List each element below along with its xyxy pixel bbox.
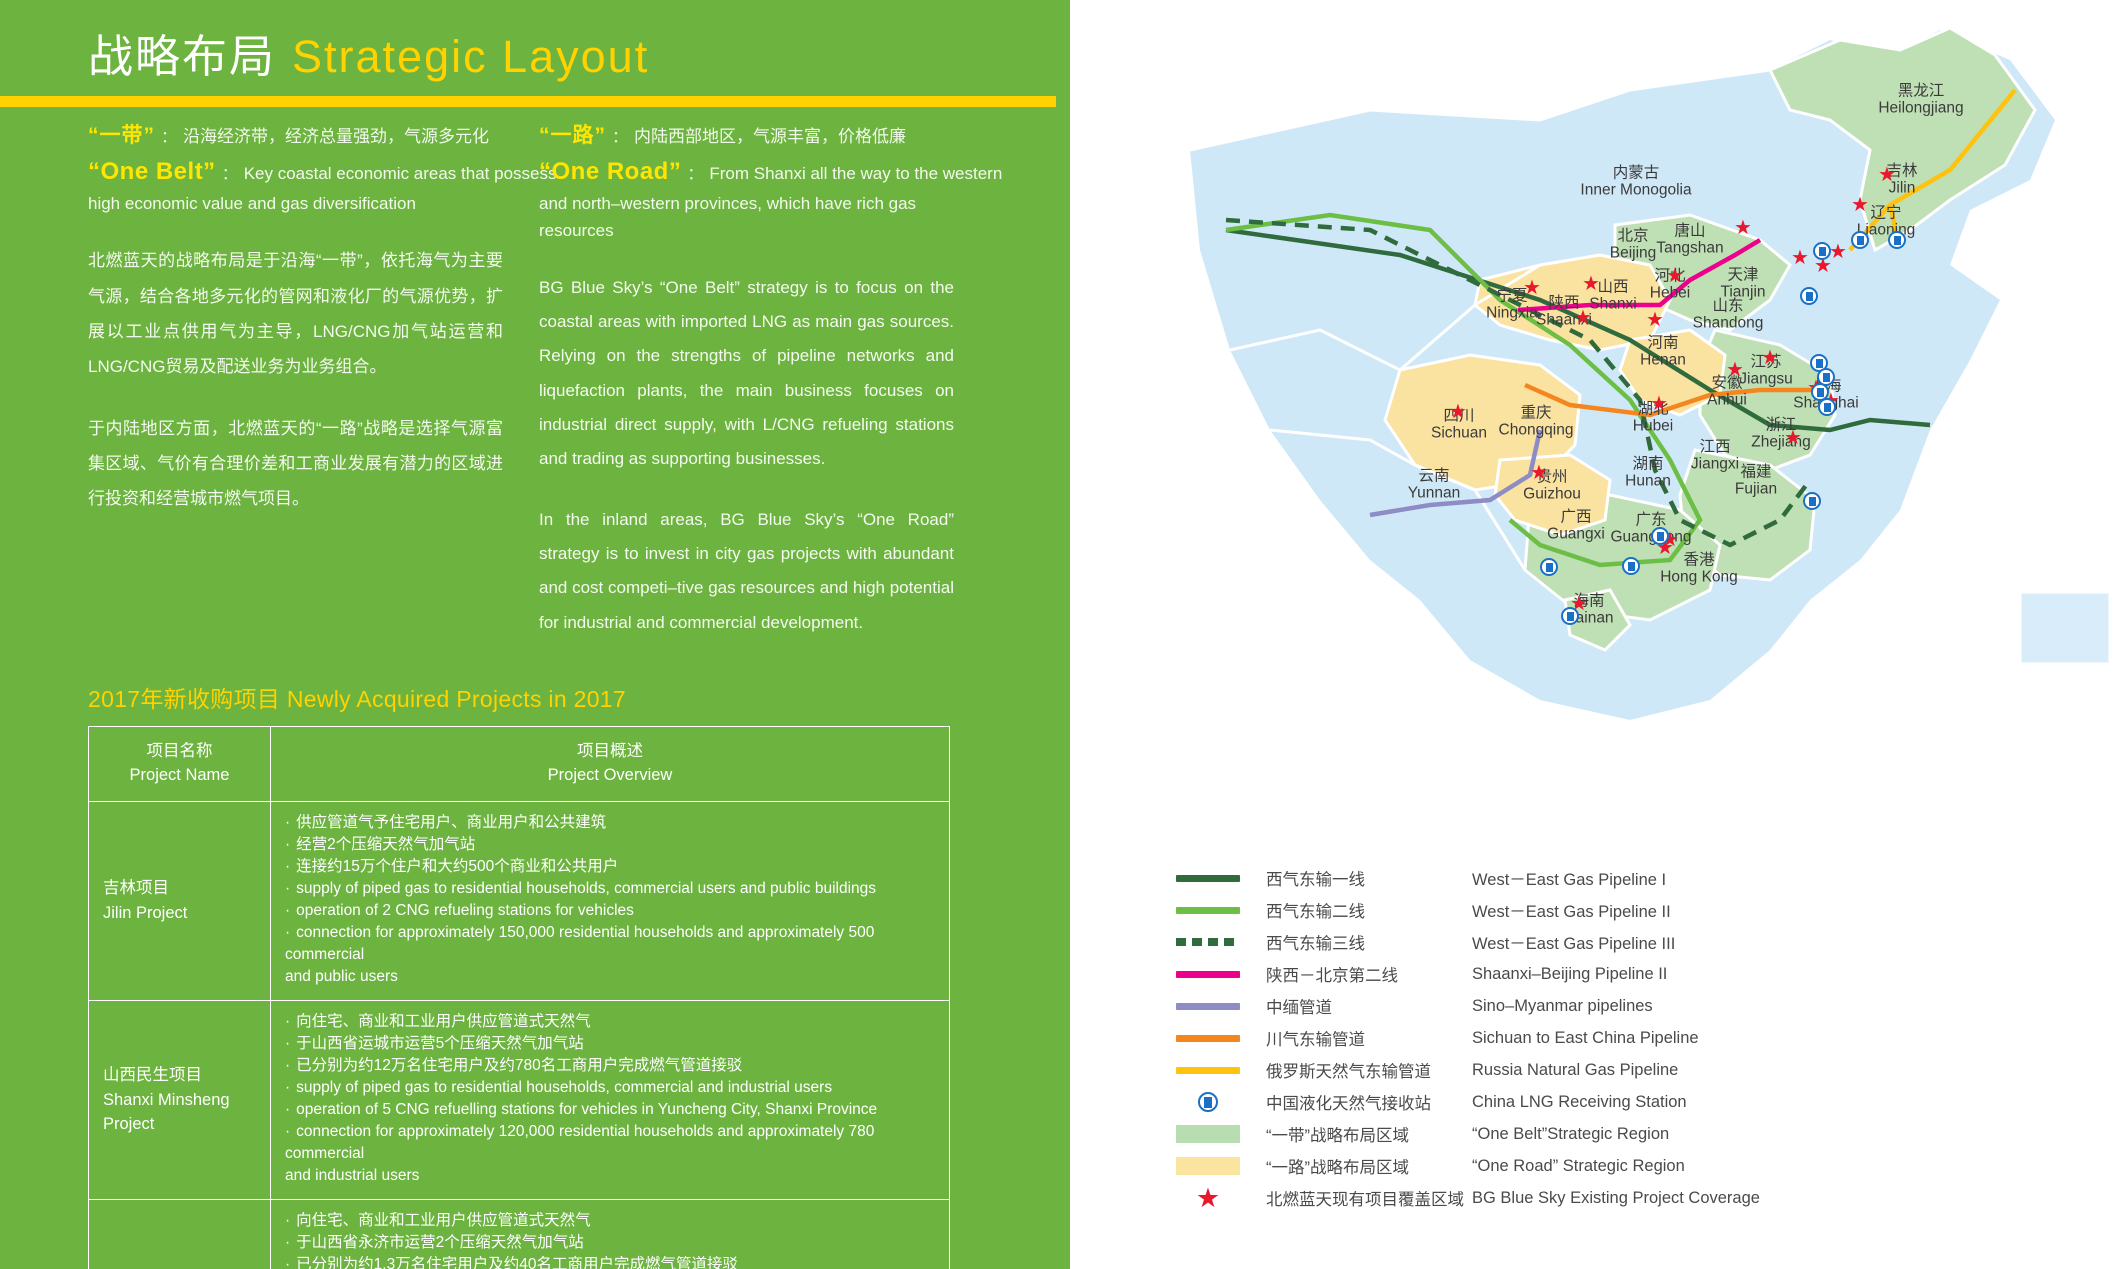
legend-label-cn: 川气东输管道 <box>1250 1026 1472 1050</box>
one-belt-lede: “一带”：沿海经济带，经济总量强劲，气源多元化 “One Belt”：Key c… <box>88 120 503 217</box>
overview-bullet: ·向住宅、商业和工业用户供应管道式天然气 <box>285 1210 935 1232</box>
legend-line-swatch <box>1176 1003 1240 1010</box>
header-project-overview-en: Project Overview <box>548 766 673 784</box>
lng-receiving-station-icon <box>1622 557 1640 575</box>
region-swatch-icon <box>1166 1157 1250 1175</box>
overview-bullet: ·经营2个压缩天然气加气站 <box>285 834 935 856</box>
legend-label-cn: “一带”战略布局区域 <box>1250 1122 1472 1146</box>
legend-line-swatch <box>1176 875 1240 882</box>
overview-bullet: ·supply of piped gas to residential hous… <box>285 1077 935 1099</box>
header-project-overview: 项目概述 Project Overview <box>271 727 950 802</box>
one-road-keyword-cn: “一路” <box>539 124 606 147</box>
column-one-belt: “一带”：沿海经济带，经济总量强劲，气源多元化 “One Belt”：Key c… <box>88 120 503 640</box>
solid-line-icon <box>1166 907 1250 914</box>
legend-row: 中缅管道Sino–Myanmar pipelines <box>1166 990 2096 1022</box>
bullet-dot-icon: · <box>285 1101 290 1118</box>
overview-bullet: ·于山西省运城市运营5个压缩天然气加气站 <box>285 1033 935 1055</box>
one-belt-cn-line: “一带”：沿海经济带，经济总量强劲，气源多元化 <box>88 120 503 153</box>
table-row: 吉林项目Jilin Project·供应管道气予住宅用户、商业用户和公共建筑·经… <box>89 801 950 1000</box>
overview-bullet-continuation: and public users <box>285 966 935 988</box>
one-belt-sep-cn: ： <box>155 129 183 146</box>
paragraph-cn-one-belt: 北燃蓝天的战略布局是于沿海“一带”，依托海气为主要气源，结合各地多元化的管网和液… <box>88 243 503 384</box>
left-content-panel: 战略布局Strategic Layout “一带”：沿海经济带，经济总量强劲，气… <box>0 0 1070 1269</box>
overview-bullet: ·connection for approximately 150,000 re… <box>285 922 935 966</box>
table-row: 山西民生项目Shanxi Minsheng Project·向住宅、商业和工业用… <box>89 1000 950 1199</box>
one-belt-desc-cn: 沿海经济带，经济总量强劲，气源多元化 <box>183 127 489 146</box>
one-belt-keyword-en: “One Belt” <box>88 158 216 185</box>
content-body: “一带”：沿海经济带，经济总量强劲，气源多元化 “One Belt”：Key c… <box>0 120 1070 1269</box>
legend-label-cn: 西气东输一线 <box>1250 866 1472 890</box>
one-road-cn-line: “一路”：内陆西部地区，气源丰富，价格低廉 <box>539 120 954 153</box>
bullet-dot-icon: · <box>285 1212 290 1229</box>
legend-row: ★北燃蓝天现有项目覆盖区域BG Blue Sky Existing Projec… <box>1166 1182 2096 1214</box>
overview-bullet: ·operation of 5 CNG refuelling stations … <box>285 1099 935 1121</box>
one-belt-desc-en-cont: high economic value and gas diversificat… <box>88 190 503 218</box>
legend-label-en: West－East Gas Pipeline I <box>1472 866 1666 890</box>
legend-label-cn: 俄罗斯天然气东输管道 <box>1250 1058 1472 1082</box>
star-icon: ★ <box>1166 1185 1250 1212</box>
legend-label-cn: 中缅管道 <box>1250 994 1472 1018</box>
cell-project-overview: ·向住宅、商业和工业用户供应管道式天然气·于山西省永济市运营2个压缩天然气加气站… <box>271 1199 950 1269</box>
header-project-name: 项目名称 Project Name <box>89 727 271 802</box>
one-belt-sep-en: ： <box>216 166 244 183</box>
legend-region-swatch <box>1176 1157 1240 1175</box>
bullet-dot-icon: · <box>285 1123 290 1140</box>
solid-line-icon <box>1166 1035 1250 1042</box>
legend-row: 西气东输二线West－East Gas Pipeline II <box>1166 894 2096 926</box>
bullet-dot-icon: · <box>285 880 290 897</box>
legend-line-swatch <box>1176 907 1240 914</box>
overview-bullet: ·已分别为约1.3万名住宅用户及约40名工商用户完成燃气管道接驳 <box>285 1254 935 1269</box>
lng-receiving-station-icon <box>1803 492 1821 510</box>
map-inset-box <box>2020 592 2110 664</box>
solid-line-icon <box>1166 1003 1250 1010</box>
one-road-desc-en-cont: and north–western provinces, which have … <box>539 190 954 245</box>
two-column-text: “一带”：沿海经济带，经济总量强劲，气源多元化 “One Belt”：Key c… <box>0 120 1070 640</box>
project-name-en: Shanxi Minsheng Project <box>103 1088 256 1138</box>
paragraph-en-one-road: In the inland areas, BG Blue Sky’s “One … <box>539 503 954 640</box>
legend-row: “一带”战略布局区域“One Belt”Strategic Region <box>1166 1118 2096 1150</box>
legend-label-en: Sino–Myanmar pipelines <box>1472 997 1653 1016</box>
overview-bullet-continuation: and industrial users <box>285 1165 935 1187</box>
bullet-dot-icon: · <box>285 924 290 941</box>
one-belt-desc-en: Key coastal economic areas that possess <box>244 164 557 183</box>
one-belt-keyword-cn: “一带” <box>88 124 155 147</box>
legend-star-swatch: ★ <box>1196 1185 1220 1212</box>
overview-bullet: ·connection for approximately 120,000 re… <box>285 1121 935 1165</box>
lng-receiving-station-icon <box>1851 231 1869 249</box>
one-road-lede: “一路”：内陆西部地区，气源丰富，价格低廉 “One Road”：From Sh… <box>539 120 954 245</box>
legend-lng-swatch <box>1198 1092 1218 1112</box>
table-body: 吉林项目Jilin Project·供应管道气予住宅用户、商业用户和公共建筑·经… <box>89 801 950 1269</box>
legend-label-en: BG Blue Sky Existing Project Coverage <box>1472 1189 1760 1208</box>
legend-line-swatch <box>1176 971 1240 978</box>
lng-receiving-station-icon <box>1800 287 1818 305</box>
one-road-en-line: “One Road”：From Shanxi all the way to th… <box>539 153 954 190</box>
legend-label-en: Sichuan to East China Pipeline <box>1472 1029 1699 1048</box>
legend-label-en: Shaanxi–Beijing Pipeline II <box>1472 965 1667 984</box>
legend-label-en: West－East Gas Pipeline II <box>1472 898 1671 922</box>
cell-project-name: 吉林项目Jilin Project <box>89 801 271 1000</box>
table-header-row: 项目名称 Project Name 项目概述 Project Overview <box>89 727 950 802</box>
table-row: 永济民生项目Yongji Minsheng Project·向住宅、商业和工业用… <box>89 1199 950 1269</box>
page-header: 战略布局Strategic Layout <box>0 0 1070 96</box>
lng-receiving-station-icon <box>1651 527 1669 545</box>
overview-bullet: ·连接约15万个住户和大约500个商业和公共用户 <box>285 856 935 878</box>
legend-label-en: West－East Gas Pipeline III <box>1472 930 1675 954</box>
header-project-name-en: Project Name <box>130 766 230 784</box>
china-map: 黑龙江Heilongjiang吉林Jilin辽宁Liaoning内蒙古Inner… <box>1070 0 2114 900</box>
legend-line-swatch <box>1176 1067 1240 1074</box>
column-one-road: “一路”：内陆西部地区，气源丰富，价格低廉 “One Road”：From Sh… <box>539 120 954 640</box>
solid-line-icon <box>1166 971 1250 978</box>
legend-label-en: “One Belt”Strategic Region <box>1472 1125 1669 1144</box>
bullet-dot-icon: · <box>285 1079 290 1096</box>
cell-project-overview: ·向住宅、商业和工业用户供应管道式天然气·于山西省运城市运营5个压缩天然气加气站… <box>271 1000 950 1199</box>
lng-receiving-station-icon <box>1540 558 1558 576</box>
lng-receiving-station-icon <box>1813 242 1831 260</box>
header-project-overview-cn: 项目概述 <box>577 742 643 760</box>
paragraph-cn-one-road: 于内陆地区方面，北燃蓝天的“一路”战略是选择气源富集区域、气价有合理价差和工商业… <box>88 411 503 517</box>
bullet-dot-icon: · <box>285 836 290 853</box>
overview-bullet: ·已分别为约12万名住宅用户及约780名工商用户完成燃气管道接驳 <box>285 1055 935 1077</box>
one-road-sep-en: ： <box>681 166 709 183</box>
legend-dashed-swatch <box>1176 938 1240 946</box>
legend-label-cn: 陕西－北京第二线 <box>1250 962 1472 986</box>
cell-project-overview: ·供应管道气予住宅用户、商业用户和公共建筑·经营2个压缩天然气加气站·连接约15… <box>271 801 950 1000</box>
page-title-en: Strategic Layout <box>292 31 649 82</box>
map-panel: 黑龙江Heilongjiang吉林Jilin辽宁Liaoning内蒙古Inner… <box>1070 0 2114 1269</box>
legend-label-cn: 北燃蓝天现有项目覆盖区域 <box>1250 1186 1472 1210</box>
header-project-name-cn: 项目名称 <box>147 742 213 760</box>
lng-station-icon <box>1166 1092 1250 1112</box>
china-map-svg <box>1070 0 2114 900</box>
map-legend: 西气东输一线West－East Gas Pipeline I西气东输二线West… <box>1166 862 2096 1214</box>
paragraph-en-one-belt: BG Blue Sky’s “One Belt” strategy is to … <box>539 271 954 477</box>
legend-label-cn: “一路”战略布局区域 <box>1250 1154 1472 1178</box>
bullet-dot-icon: · <box>285 1013 290 1030</box>
overview-bullet: ·供应管道气予住宅用户、商业用户和公共建筑 <box>285 812 935 834</box>
legend-label-cn: 西气东输二线 <box>1250 898 1472 922</box>
page-title: 战略布局Strategic Layout <box>88 20 649 85</box>
legend-row: 陕西－北京第二线Shaanxi–Beijing Pipeline II <box>1166 958 2096 990</box>
one-belt-en-line: “One Belt”：Key coastal economic areas th… <box>88 153 503 190</box>
bullet-dot-icon: · <box>285 1035 290 1052</box>
section-title-acquired-projects: 2017年新收购项目 Newly Acquired Projects in 20… <box>88 680 1070 714</box>
solid-line-icon <box>1166 1067 1250 1074</box>
legend-label-en: Russia Natural Gas Pipeline <box>1472 1061 1678 1080</box>
one-road-desc-cn: 内陆西部地区，气源丰富，价格低廉 <box>634 127 906 146</box>
project-name-cn: 吉林项目 <box>103 876 256 901</box>
legend-label-en: “One Road” Strategic Region <box>1472 1157 1685 1176</box>
cell-project-name: 山西民生项目Shanxi Minsheng Project <box>89 1000 271 1199</box>
bullet-dot-icon: · <box>285 1256 290 1269</box>
legend-label-cn: 西气东输三线 <box>1250 930 1472 954</box>
lng-receiving-station-icon <box>1561 607 1579 625</box>
one-road-sep-cn: ： <box>606 129 634 146</box>
acquired-projects-table: 项目名称 Project Name 项目概述 Project Overview … <box>88 726 950 1269</box>
one-road-keyword-en: “One Road” <box>539 158 681 185</box>
bullet-dot-icon: · <box>285 814 290 831</box>
region-swatch-icon <box>1166 1125 1250 1143</box>
table-head: 项目名称 Project Name 项目概述 Project Overview <box>89 727 950 802</box>
bullet-dot-icon: · <box>285 858 290 875</box>
bullet-dot-icon: · <box>285 1234 290 1251</box>
strategic-layout-page: 战略布局Strategic Layout “一带”：沿海经济带，经济总量强劲，气… <box>0 0 2114 1269</box>
legend-row: 西气东输三线West－East Gas Pipeline III <box>1166 926 2096 958</box>
lng-receiving-station-icon <box>1818 398 1836 416</box>
legend-label-cn: 中国液化天然气接收站 <box>1250 1090 1472 1114</box>
legend-line-swatch <box>1176 1035 1240 1042</box>
legend-row: 中国液化天然气接收站China LNG Receiving Station <box>1166 1086 2096 1118</box>
legend-row: 西气东输一线West－East Gas Pipeline I <box>1166 862 2096 894</box>
overview-bullet: ·supply of piped gas to residential hous… <box>285 878 935 900</box>
dashed-line-icon <box>1166 938 1250 946</box>
legend-label-en: China LNG Receiving Station <box>1472 1093 1687 1112</box>
overview-bullet: ·于山西省永济市运营2个压缩天然气加气站 <box>285 1232 935 1254</box>
bullet-dot-icon: · <box>285 902 290 919</box>
cell-project-name: 永济民生项目Yongji Minsheng Project <box>89 1199 271 1269</box>
legend-row: 俄罗斯天然气东输管道Russia Natural Gas Pipeline <box>1166 1054 2096 1086</box>
overview-bullet: ·operation of 2 CNG refueling stations f… <box>285 900 935 922</box>
bullet-dot-icon: · <box>285 1057 290 1074</box>
legend-row: 川气东输管道Sichuan to East China Pipeline <box>1166 1022 2096 1054</box>
project-name-en: Jilin Project <box>103 901 256 926</box>
project-name-cn: 山西民生项目 <box>103 1063 256 1088</box>
one-road-desc-en: From Shanxi all the way to the western <box>709 164 1002 183</box>
legend-region-swatch <box>1176 1125 1240 1143</box>
solid-line-icon <box>1166 875 1250 882</box>
overview-bullet: ·向住宅、商业和工业用户供应管道式天然气 <box>285 1011 935 1033</box>
header-divider <box>0 96 1056 107</box>
page-title-cn: 战略布局 <box>88 31 276 82</box>
lng-receiving-station-icon <box>1888 231 1906 249</box>
legend-row: “一路”战略布局区域“One Road” Strategic Region <box>1166 1150 2096 1182</box>
